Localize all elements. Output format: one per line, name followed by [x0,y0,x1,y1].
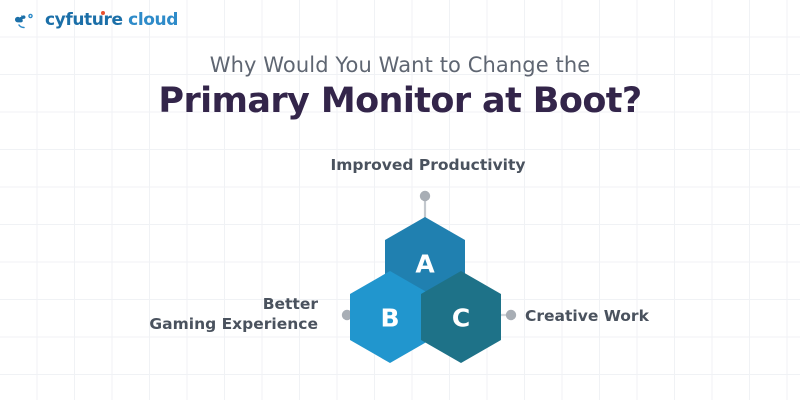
hexagon-diagram: A B C Improved Productivity Better Gamin… [0,145,800,385]
page-title: Primary Monitor at Boot? [0,81,800,122]
brand-name-secondary: cloud [128,10,178,30]
node-label-a: Improved Productivity [330,156,525,174]
node-label-c: Creative Work [525,307,650,325]
connector-dot-right [506,310,516,320]
infographic-canvas: cyfuture cloud Why Would You Want to Cha… [0,0,800,400]
subtitle: Why Would You Want to Change the [0,53,800,77]
heading-block: Why Would You Want to Change the Primary… [0,53,800,122]
hexagon-letter-b: B [380,304,399,333]
brand-name-primary: cyfuture [45,10,123,30]
brand-logo[interactable]: cyfuture cloud [14,8,178,32]
connector-dot-top [420,191,430,201]
brand-accent-dot [101,11,105,15]
brand-wordmark: cyfuture cloud [45,12,178,29]
node-label-b-line2: Gaming Experience [149,315,318,333]
node-label-b-line1: Better [263,295,319,313]
hexagon-letter-a: A [415,250,435,279]
hexagon-letter-c: C [452,304,470,333]
cloud-icon [14,10,40,30]
